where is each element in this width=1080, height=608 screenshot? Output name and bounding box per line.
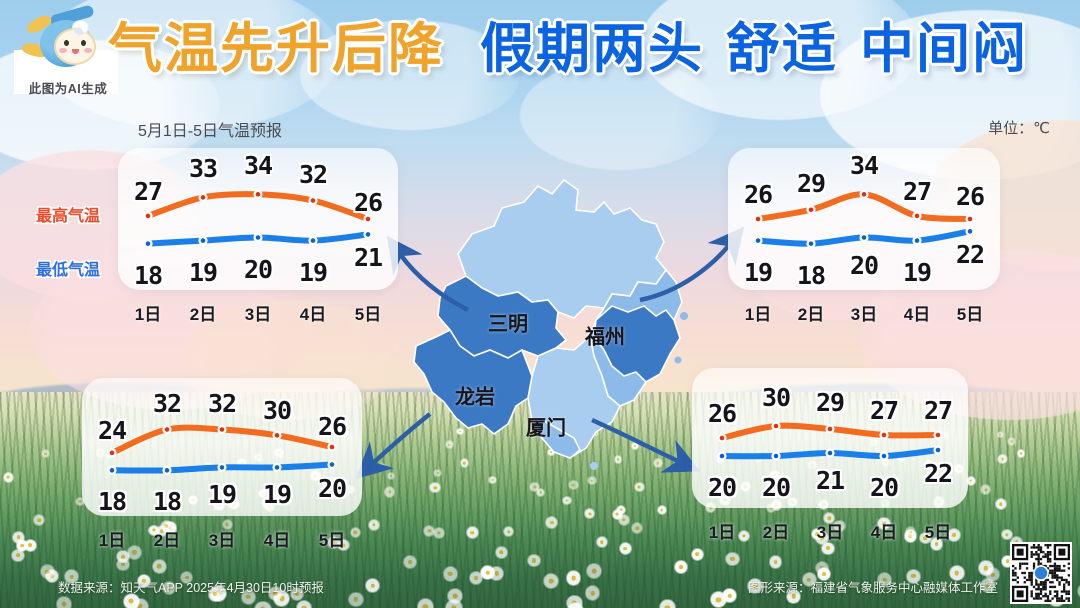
map-island [590, 462, 598, 470]
footer-graphic-source: 图形来源：福建省气象服务中心融媒体工作室 [748, 577, 998, 596]
daisy-flower [597, 537, 607, 547]
data-point-core [165, 468, 170, 473]
daisy-flower [446, 600, 462, 608]
daisy-flower [41, 565, 54, 578]
value-label-high-3: 32 [299, 160, 327, 189]
mascot-caption: 此图为AI生成 [10, 78, 126, 97]
fujian-map: 三明福州龙岩厦门 [398, 150, 698, 490]
data-point-core [915, 214, 920, 219]
value-label-high-1: 30 [762, 383, 790, 412]
value-label-low-3: 19 [263, 480, 291, 509]
data-point-core [936, 448, 941, 453]
value-label-high-4: 26 [318, 412, 346, 441]
data-point-core [146, 241, 151, 246]
map-city-label-0: 三明 [488, 308, 528, 337]
daisy-flower [620, 543, 631, 554]
data-point-core [256, 192, 261, 197]
data-point-core [311, 198, 316, 203]
value-label-low-0: 19 [744, 258, 772, 287]
x-axis-tick-2: 3日 [209, 526, 235, 551]
data-point-core [774, 424, 779, 429]
value-label-high-3: 27 [870, 396, 898, 425]
data-point-core [110, 468, 115, 473]
daisy-flower [979, 561, 992, 574]
value-label-low-4: 22 [924, 459, 952, 488]
daisy-flower [770, 556, 781, 567]
x-axis-tick-3: 4日 [871, 518, 897, 543]
data-point-core [110, 451, 115, 456]
data-point-core [882, 454, 887, 459]
data-point-core [201, 238, 206, 243]
x-axis-tick-4: 5日 [319, 526, 345, 551]
daisy-flower [587, 564, 601, 578]
title-segment-1: 气温先升后降 [108, 22, 444, 76]
daisy-flower [379, 464, 385, 470]
daisy-flower [128, 546, 141, 559]
daisy-flower [385, 487, 395, 497]
value-label-low-3: 19 [299, 258, 327, 287]
daisy-flower [998, 455, 1006, 463]
data-point-core [256, 235, 261, 240]
value-label-low-2: 20 [244, 255, 272, 284]
data-point-core [366, 232, 371, 237]
x-axis-tick-3: 4日 [904, 300, 930, 325]
map-island [675, 357, 682, 364]
daisy-flower [57, 597, 72, 608]
data-point-core [828, 427, 833, 432]
qr-code[interactable] [1010, 542, 1072, 604]
daisy-flower [528, 555, 540, 567]
daisy-flower [998, 432, 1003, 437]
value-label-high-1: 32 [153, 389, 181, 418]
chart-panel-longyan: 243232302618181919201日2日3日4日5日 [82, 378, 362, 516]
value-label-high-4: 27 [924, 396, 952, 425]
x-axis-tick-2: 3日 [817, 518, 843, 543]
data-point-core [165, 427, 170, 432]
daisy-flower [349, 593, 362, 606]
value-label-low-4: 21 [354, 243, 382, 272]
data-point-core [275, 433, 280, 438]
x-axis-tick-3: 4日 [300, 300, 326, 325]
map-city-label-1: 福州 [585, 321, 625, 350]
data-point-core [809, 241, 814, 246]
legend-low-label: 最低气温 [36, 256, 100, 280]
x-axis-tick-3: 4日 [264, 526, 290, 551]
map-city-label-3: 厦门 [526, 412, 566, 441]
value-label-low-3: 20 [870, 473, 898, 502]
daisy-flower [467, 527, 478, 538]
value-label-low-0: 18 [98, 487, 126, 516]
x-axis-tick-0: 1日 [99, 526, 125, 551]
chart-panel-xiamen: 263029272720202120221日2日3日4日5日 [692, 368, 968, 508]
daisy-flower [613, 510, 622, 519]
footer-data-source: 数据来源：知天气APP 2025年4月30日10时预报 [58, 577, 324, 596]
data-point-core [862, 192, 867, 197]
data-point-core [330, 445, 335, 450]
x-axis-tick-2: 3日 [245, 300, 271, 325]
daisy-flower [4, 473, 12, 481]
x-axis-tick-0: 1日 [745, 300, 771, 325]
value-label-high-0: 24 [98, 416, 126, 445]
daisy-flower [496, 547, 507, 558]
data-point-core [828, 451, 833, 456]
title-segment-3: 舒适 [726, 22, 838, 76]
x-axis-tick-1: 2日 [763, 518, 789, 543]
x-axis-tick-0: 1日 [709, 518, 735, 543]
value-label-low-1: 19 [189, 258, 217, 287]
daisy-flower [1018, 450, 1024, 456]
title-segment-2: 假期两头 [480, 22, 704, 76]
value-label-low-4: 22 [956, 240, 984, 269]
value-label-high-0: 27 [134, 177, 162, 206]
data-point-core [968, 217, 973, 222]
x-axis-tick-4: 5日 [925, 518, 951, 543]
value-label-low-2: 20 [850, 251, 878, 280]
title-segment-4: 中间闷 [860, 22, 1028, 76]
value-label-high-2: 32 [208, 389, 236, 418]
value-label-low-1: 18 [797, 261, 825, 290]
data-point-core [756, 217, 761, 222]
daisy-flower [563, 497, 571, 505]
value-label-high-3: 30 [263, 396, 291, 425]
data-point-core [936, 433, 941, 438]
x-axis-tick-1: 2日 [154, 526, 180, 551]
value-label-high-1: 29 [797, 169, 825, 198]
data-point-core [915, 238, 920, 243]
daisy-flower [658, 506, 666, 514]
value-label-low-0: 18 [134, 261, 162, 290]
value-label-high-2: 29 [816, 388, 844, 417]
data-point-core [220, 465, 225, 470]
data-point-core [756, 238, 761, 243]
page-title: 气温先升后降 假期两头 舒适 中间闷 [108, 22, 1028, 76]
data-point-core [968, 229, 973, 234]
value-label-high-4: 26 [354, 188, 382, 217]
daisy-flower [822, 543, 834, 555]
chart-panel-sanming: 27333432261819201921最高气温最低气温1日2日3日4日5日 [118, 148, 398, 290]
x-axis-tick-0: 1日 [135, 300, 161, 325]
value-label-high-2: 34 [850, 151, 878, 180]
chart-panel-fuzhou: 262934272619182019221日2日3日4日5日 [728, 148, 1000, 290]
daisy-flower [675, 561, 686, 572]
daisy-flower [692, 549, 703, 560]
data-point-core [809, 207, 814, 212]
daisy-flower [444, 567, 458, 581]
daisy-flower [404, 556, 416, 568]
data-point-core [220, 427, 225, 432]
value-label-low-2: 21 [816, 466, 844, 495]
daisy-flower [12, 550, 23, 561]
legend-high-label: 最高气温 [36, 202, 100, 226]
value-label-high-0: 26 [708, 399, 736, 428]
value-label-low-4: 20 [318, 474, 346, 503]
daisy-flower [586, 586, 600, 600]
unit-label: 单位：℃ [988, 117, 1050, 138]
map-island [680, 312, 688, 320]
daisy-flower [369, 520, 379, 530]
x-axis-tick-4: 5日 [957, 300, 983, 325]
data-point-core [774, 454, 779, 459]
value-label-low-1: 20 [762, 473, 790, 502]
x-axis-tick-2: 3日 [851, 300, 877, 325]
data-point-core [201, 195, 206, 200]
value-label-high-0: 26 [744, 180, 772, 209]
data-point-core [146, 214, 151, 219]
daisy-flower [711, 592, 726, 607]
value-label-high-1: 33 [189, 154, 217, 183]
value-label-low-1: 18 [153, 487, 181, 516]
daisy-flower [739, 531, 749, 541]
daisy-flower [418, 599, 433, 608]
x-axis-tick-4: 5日 [355, 300, 381, 325]
data-point-core [720, 436, 725, 441]
daisy-flower [544, 574, 558, 588]
data-point-core [720, 454, 725, 459]
data-point-core [311, 238, 316, 243]
subtitle: 5月1日-5日气温预报 [138, 117, 282, 141]
value-label-high-2: 34 [244, 151, 272, 180]
daisy-flower [434, 528, 444, 538]
daisy-flower [25, 540, 36, 551]
x-axis-tick-1: 2日 [190, 300, 216, 325]
data-point-core [330, 462, 335, 467]
value-label-low-2: 19 [208, 480, 236, 509]
data-point-core [366, 217, 371, 222]
x-axis-tick-1: 2日 [798, 300, 824, 325]
value-label-high-4: 26 [956, 182, 984, 211]
value-label-high-3: 27 [903, 177, 931, 206]
data-point-core [882, 433, 887, 438]
data-point-core [862, 235, 867, 240]
value-label-low-3: 19 [903, 258, 931, 287]
value-label-low-0: 20 [708, 473, 736, 502]
daisy-flower [906, 527, 916, 537]
daisy-flower [424, 526, 434, 536]
map-city-label-2: 龙岩 [455, 381, 495, 410]
data-point-core [275, 465, 280, 470]
daisy-flower [13, 532, 24, 543]
infographic-stage: 此图为AI生成 气温先升后降 假期两头 舒适 中间闷 5月1日-5日气温预报 单… [0, 0, 1080, 608]
